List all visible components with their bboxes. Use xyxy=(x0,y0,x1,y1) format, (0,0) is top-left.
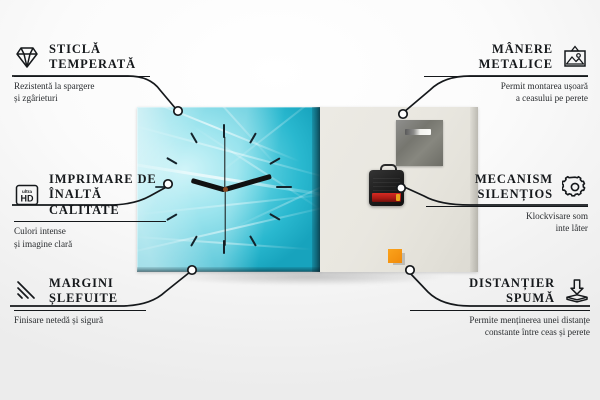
picture-hanger-icon xyxy=(562,44,588,70)
gear-icon xyxy=(562,174,588,200)
feature-rule xyxy=(14,310,146,312)
feature-title: DISTANȚIER SPUMĂ xyxy=(469,276,555,307)
feature-desc: Culori intense și imagine clară xyxy=(14,225,166,250)
minute-hand xyxy=(224,174,271,192)
feature-rule xyxy=(410,310,590,312)
mechanism-texture xyxy=(373,175,400,191)
feature-desc: Permite menținerea unei distanțe constan… xyxy=(410,314,590,339)
feature-polished-edges: MARGINI ȘLEFUITE Finisare netedă și sigu… xyxy=(14,276,146,326)
feature-rule xyxy=(14,76,150,78)
hanger-slot xyxy=(405,129,431,135)
feature-title: IMPRIMARE DE ÎNALTĂ CALITATE xyxy=(49,172,166,218)
feature-desc: Finisare netedă și sigură xyxy=(14,314,146,326)
second-hand xyxy=(224,189,225,246)
diamond-icon xyxy=(14,44,40,70)
feature-high-quality-print: ultra HD IMPRIMARE DE ÎNALTĂ CALITATE Cu… xyxy=(14,172,166,250)
feature-desc: Permit montarea ușoară a ceasului pe per… xyxy=(424,80,588,105)
feature-header: ultra HD IMPRIMARE DE ÎNALTĂ CALITATE xyxy=(14,172,166,218)
ultra-hd-icon: ultra HD xyxy=(14,182,40,208)
glass-edge-bottom xyxy=(137,267,321,272)
feature-rule xyxy=(426,206,588,208)
feature-rule xyxy=(14,221,166,223)
feature-metal-handles: MÂNERE METALICE Permit montarea ușoară a… xyxy=(424,42,588,105)
second-hand-upper xyxy=(224,137,225,189)
metal-hanger-plate xyxy=(396,120,443,166)
feature-title: STICLĂ TEMPERATĂ xyxy=(49,42,136,73)
battery-terminal xyxy=(396,194,400,201)
feature-header: MECANISM SILENȚIOS xyxy=(426,172,588,203)
arrow-down-pad-icon xyxy=(564,278,590,304)
feature-rule xyxy=(424,76,588,78)
svg-text:HD: HD xyxy=(21,193,34,203)
feature-header: MÂNERE METALICE xyxy=(424,42,588,73)
feature-desc: Klockvisare som inte låter xyxy=(426,210,588,235)
feature-header: MARGINI ȘLEFUITE xyxy=(14,276,146,307)
foam-spacer xyxy=(388,249,402,263)
feature-title: MARGINI ȘLEFUITE xyxy=(49,276,118,307)
feature-tempered-glass: STICLĂ TEMPERATĂ Rezistentă la spargere … xyxy=(14,42,150,105)
feature-silent-mechanism: MECANISM SILENȚIOS Klockvisare som inte … xyxy=(426,172,588,235)
feature-foam-spacer: DISTANȚIER SPUMĂ Permite menținerea unei… xyxy=(410,276,590,339)
polished-edges-icon xyxy=(14,278,40,304)
feature-header: DISTANȚIER SPUMĂ xyxy=(410,276,590,307)
feature-header: STICLĂ TEMPERATĂ xyxy=(14,42,150,73)
battery xyxy=(372,193,401,202)
feature-title: MÂNERE METALICE xyxy=(479,42,553,73)
clock-hub xyxy=(223,187,228,192)
feature-desc: Rezistentă la spargere și zgârieturi xyxy=(14,80,150,105)
infographic-canvas: STICLĂ TEMPERATĂ Rezistentă la spargere … xyxy=(0,0,600,400)
feature-title: MECANISM SILENȚIOS xyxy=(475,172,553,203)
hour-hand xyxy=(191,178,226,192)
